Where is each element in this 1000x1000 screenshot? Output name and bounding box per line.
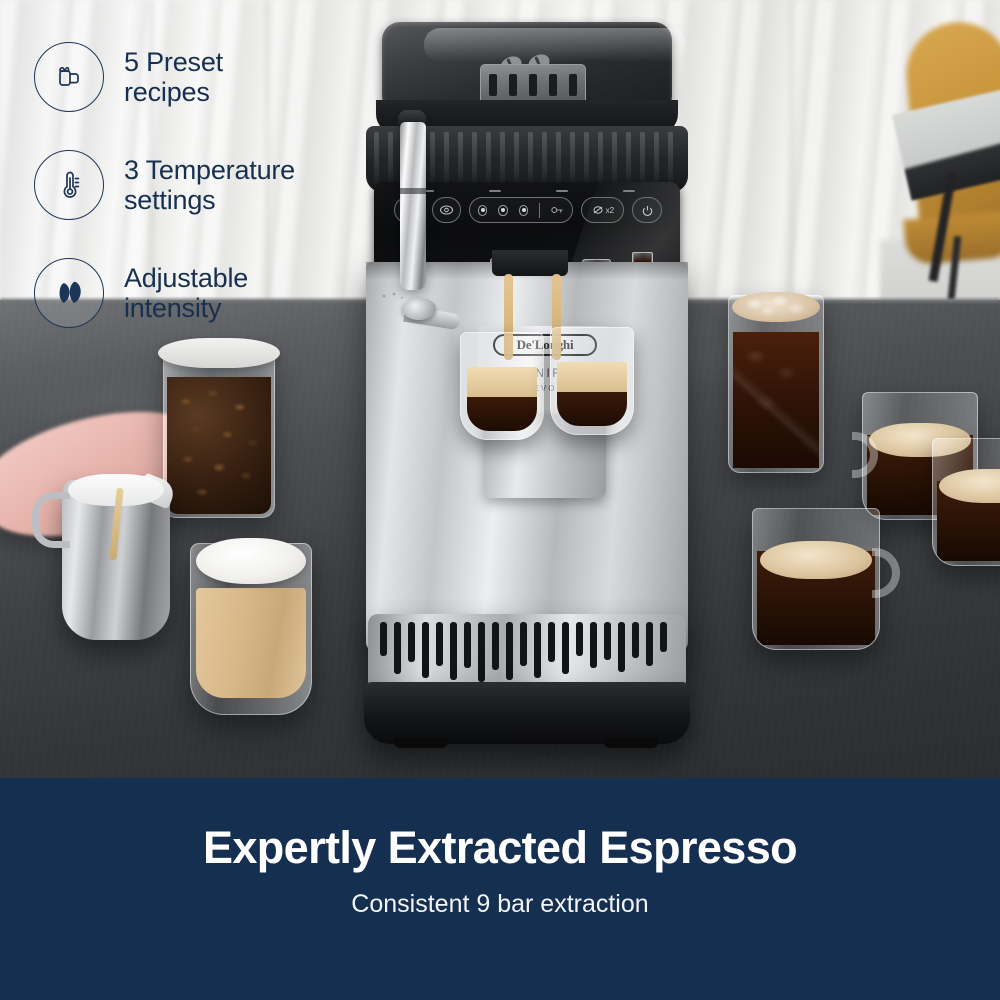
- chute-slot: [529, 74, 537, 96]
- drip-tray-slot: [464, 622, 471, 668]
- mug-crema: [760, 541, 872, 579]
- steam-wand[interactable]: [400, 122, 426, 290]
- hopper-gloss: [424, 28, 686, 62]
- intensity-level-1[interactable]: [478, 205, 487, 216]
- chute-slot: [549, 74, 557, 96]
- drip-tray-slot: [422, 622, 429, 678]
- feature-line-1: Adjustable: [124, 263, 248, 293]
- double-shot-icon[interactable]: x2: [581, 197, 624, 223]
- promo-banner: Expertly Extracted Espresso Consistent 9…: [0, 778, 1000, 1000]
- drip-tray-slot: [548, 622, 555, 662]
- latte-milk-foam: [196, 538, 306, 584]
- grate-fin: [430, 132, 435, 186]
- coffee-beans: [167, 377, 271, 514]
- chute-slot: [569, 74, 577, 96]
- iced-coffee-liquid: [733, 332, 819, 468]
- base-foot: [604, 738, 658, 748]
- grate-fin: [374, 132, 379, 186]
- espresso-cup-right: [550, 327, 634, 435]
- feature-text: Adjustable intensity: [124, 263, 248, 323]
- cup-with-foam-icon: [34, 42, 104, 112]
- grate-fin: [458, 132, 463, 186]
- steam-wand-ring: [400, 188, 426, 194]
- grate-fin: [528, 132, 533, 186]
- grinder-adjust-knob[interactable]: [402, 298, 436, 320]
- grate-fin: [388, 132, 393, 186]
- thermometer-icon: [34, 150, 104, 220]
- grate-fin: [654, 132, 659, 186]
- ice-cubes: [732, 292, 820, 322]
- grinder-scale-icon: [380, 290, 406, 302]
- drip-tray-slot: [660, 622, 667, 652]
- drip-tray-slot: [604, 622, 611, 660]
- grate-fin: [542, 132, 547, 186]
- drip-tray-slot: [632, 622, 639, 658]
- coffee-bean-jar: [163, 352, 275, 518]
- feature-line-2: settings: [124, 185, 295, 215]
- machine-body: De'Longhi MAGNIFICA EVO: [366, 262, 688, 652]
- intensity-level-3[interactable]: [519, 205, 528, 216]
- grate-fin: [556, 132, 561, 186]
- power-icon[interactable]: [632, 197, 662, 223]
- aroma-icon[interactable]: [432, 197, 462, 223]
- espresso-liquid: [467, 397, 537, 431]
- double-shot-label: x2: [606, 206, 614, 215]
- chute-slot: [509, 74, 517, 96]
- grate-fin: [598, 132, 603, 186]
- chute-slot: [489, 74, 497, 96]
- drip-tray-slot: [436, 622, 443, 666]
- control-icon-row: x2: [394, 196, 662, 224]
- feature-line-2: intensity: [124, 293, 248, 323]
- drip-tray-slot: [520, 622, 527, 666]
- feature-line-1: 3 Temperature: [124, 155, 295, 185]
- product-photo-scene: x2: [0, 0, 1000, 778]
- grate-fin: [584, 132, 589, 186]
- coffee-mug: [932, 438, 1000, 566]
- coffee-beans-icon: [34, 258, 104, 328]
- drip-tray-slot: [618, 622, 625, 672]
- divider: [539, 203, 540, 218]
- grate-fin: [472, 132, 477, 186]
- feature-text: 5 Preset recipes: [124, 47, 223, 107]
- drip-tray-slot: [562, 622, 569, 674]
- intensity-level-2[interactable]: [498, 205, 507, 216]
- tick: [489, 190, 501, 192]
- grate-fin: [444, 132, 449, 186]
- drip-tray-slot: [576, 622, 583, 656]
- drip-tray-slot: [380, 622, 387, 656]
- product-marketing-image: x2: [0, 0, 1000, 1000]
- drip-tray-base: [364, 682, 690, 744]
- drip-tray-slot: [492, 622, 499, 670]
- pre-ground-icon[interactable]: [551, 205, 564, 215]
- drip-tray-slot: [394, 622, 401, 674]
- drip-tray-slot: [646, 622, 653, 666]
- milk-pitcher-handle: [32, 492, 70, 548]
- grate-fin: [626, 132, 631, 186]
- drip-tray-slot: [506, 622, 513, 680]
- intensity-selector[interactable]: [469, 197, 573, 223]
- feature-line-1: 5 Preset: [124, 47, 223, 77]
- grate-fin: [500, 132, 505, 186]
- grate-fin: [668, 132, 673, 186]
- banner-headline: Expertly Extracted Espresso: [203, 822, 797, 874]
- grate-fin: [514, 132, 519, 186]
- drip-tray-slot: [408, 622, 415, 662]
- feature-preset-recipes: 5 Preset recipes: [34, 42, 364, 112]
- drip-tray-slot: [450, 622, 457, 680]
- feature-callout-list: 5 Preset recipes 3 Temperatur: [34, 42, 364, 366]
- drip-tray-slot: [534, 622, 541, 678]
- coffee-mug: [752, 508, 880, 650]
- tick: [556, 190, 568, 192]
- drip-tray-slot: [478, 622, 485, 682]
- espresso-liquid: [557, 392, 627, 426]
- feature-text: 3 Temperature settings: [124, 155, 295, 215]
- grate-fin: [612, 132, 617, 186]
- tick: [623, 190, 635, 192]
- feature-line-2: recipes: [124, 77, 223, 107]
- drip-tray-slot: [590, 622, 597, 668]
- espresso-cup-left: [460, 332, 544, 440]
- feature-temperature-settings: 3 Temperature settings: [34, 150, 364, 220]
- grate-fin: [486, 132, 491, 186]
- grate-fin: [640, 132, 645, 186]
- latte-liquid: [196, 588, 306, 698]
- intensity-ticks: [394, 190, 662, 192]
- banner-subhead: Consistent 9 bar extraction: [351, 890, 648, 919]
- espresso-machine: x2: [352, 22, 724, 737]
- grate-fin: [570, 132, 575, 186]
- base-foot: [394, 738, 448, 748]
- feature-adjustable-intensity: Adjustable intensity: [34, 258, 364, 328]
- coffee-spout: [492, 250, 568, 276]
